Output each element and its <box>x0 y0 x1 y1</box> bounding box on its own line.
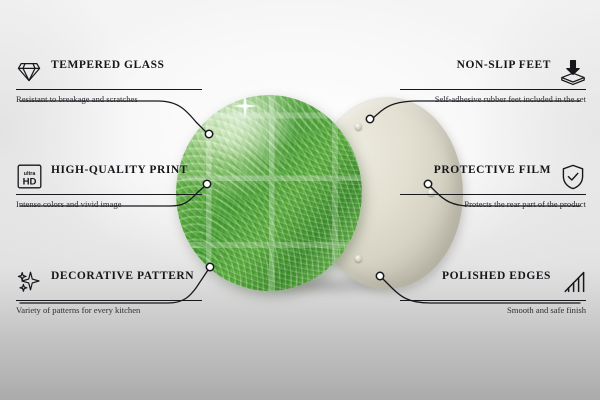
feature-tempered-glass[interactable]: TEMPERED GLASS Resistant to breakage and… <box>16 58 202 104</box>
connector-dot-tempered-glass <box>205 130 212 137</box>
feature-non-slip-feet[interactable]: NON-SLIP FEET Self-adhesive rubber feet … <box>400 58 586 104</box>
feature-title: PROTECTIVE FILM <box>434 163 551 178</box>
feature-header: PROTECTIVE FILM <box>400 163 586 190</box>
svg-text:HD: HD <box>22 176 36 187</box>
feature-divider <box>16 194 202 195</box>
feature-description: Intense colors and vivid image <box>16 199 202 209</box>
feature-header: TEMPERED GLASS <box>16 58 202 85</box>
feature-polished-edges[interactable]: POLISHED EDGES Smooth and safe finish <box>400 269 586 315</box>
connector-dot-polished-edges <box>376 272 383 279</box>
sparkles-icon <box>16 269 42 296</box>
infographic-canvas: TEMPERED GLASS Resistant to breakage and… <box>0 0 600 400</box>
connector-dot-non-slip-feet <box>366 115 373 122</box>
feature-decorative-pattern[interactable]: DECORATIVE PATTERN Variety of patterns f… <box>16 269 202 315</box>
feature-header: ultra HD HIGH-QUALITY PRINT <box>16 163 202 190</box>
feature-protective-film[interactable]: PROTECTIVE FILM Protects the rear part o… <box>400 163 586 209</box>
connector-dot-hq-print <box>203 180 210 187</box>
connector-path-tempered-glass <box>20 101 206 132</box>
feature-title: POLISHED EDGES <box>442 269 551 284</box>
feature-header: DECORATIVE PATTERN <box>16 269 202 296</box>
feature-title: TEMPERED GLASS <box>51 58 164 73</box>
feature-title: NON-SLIP FEET <box>457 58 551 73</box>
press-down-pad-icon <box>560 58 586 85</box>
diamond-icon <box>16 58 42 85</box>
diagonal-lines-icon <box>560 269 586 296</box>
feature-description: Protects the rear part of the product <box>400 199 586 209</box>
feature-description: Resistant to breakage and scratches <box>16 94 202 104</box>
feature-divider <box>16 89 202 90</box>
feature-title: HIGH-QUALITY PRINT <box>51 163 188 178</box>
ultra-hd-icon: ultra HD <box>16 163 42 190</box>
feature-high-quality-print[interactable]: ultra HD HIGH-QUALITY PRINT Intense colo… <box>16 163 202 209</box>
feature-divider <box>400 194 586 195</box>
feature-header: NON-SLIP FEET <box>400 58 586 85</box>
feature-title: DECORATIVE PATTERN <box>51 269 194 284</box>
feature-divider <box>400 89 586 90</box>
feature-header: POLISHED EDGES <box>400 269 586 296</box>
feature-description: Variety of patterns for every kitchen <box>16 305 202 315</box>
feature-divider <box>400 300 586 301</box>
feature-description: Self-adhesive rubber feet included in th… <box>400 94 586 104</box>
feature-divider <box>16 300 202 301</box>
shield-check-icon <box>560 163 586 190</box>
connector-dot-decorative-pattern <box>206 263 213 270</box>
feature-description: Smooth and safe finish <box>400 305 586 315</box>
